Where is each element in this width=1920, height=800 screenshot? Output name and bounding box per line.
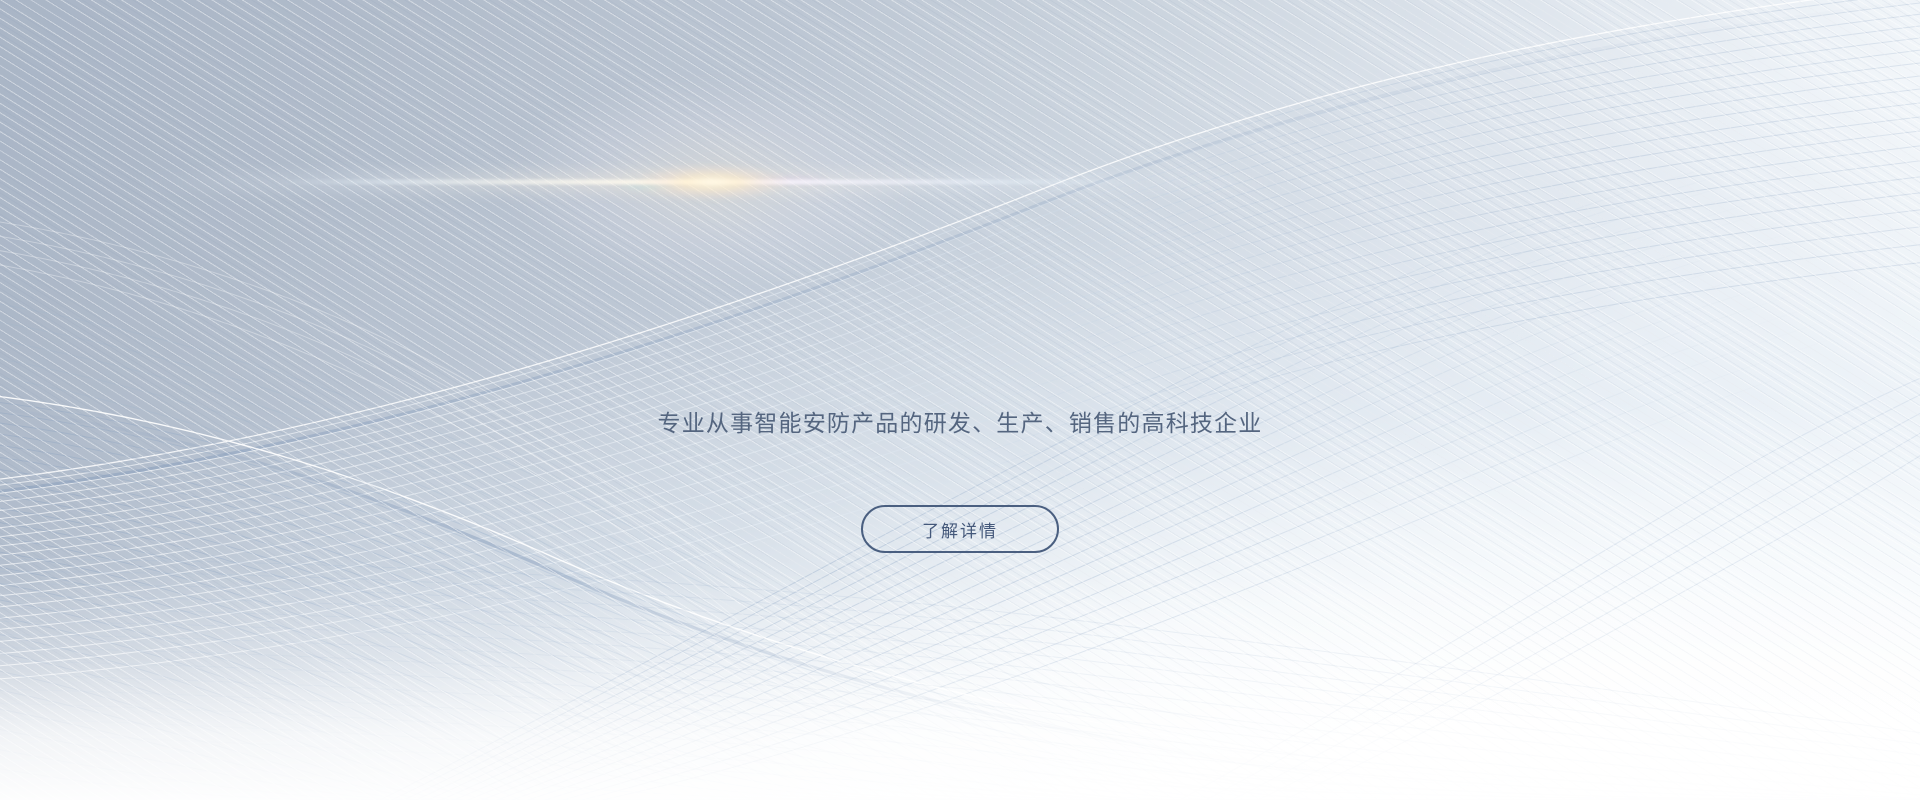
- hero-headline-text: 以智能视觉处理技术为核心: [390, 258, 1530, 346]
- hero-banner: 以智能视觉处理技术为核心 专业从事智能安防产品的研发、生产、销售的高科技企业 了…: [0, 0, 1920, 800]
- learn-more-button[interactable]: 了解详情: [861, 505, 1059, 553]
- hero-subtitle: 专业从事智能安防产品的研发、生产、销售的高科技企业: [658, 404, 1263, 438]
- hero-content: 以智能视觉处理技术为核心 专业从事智能安防产品的研发、生产、销售的高科技企业 了…: [0, 0, 1920, 800]
- hero-headline: 以智能视觉处理技术为核心: [426, 258, 1494, 346]
